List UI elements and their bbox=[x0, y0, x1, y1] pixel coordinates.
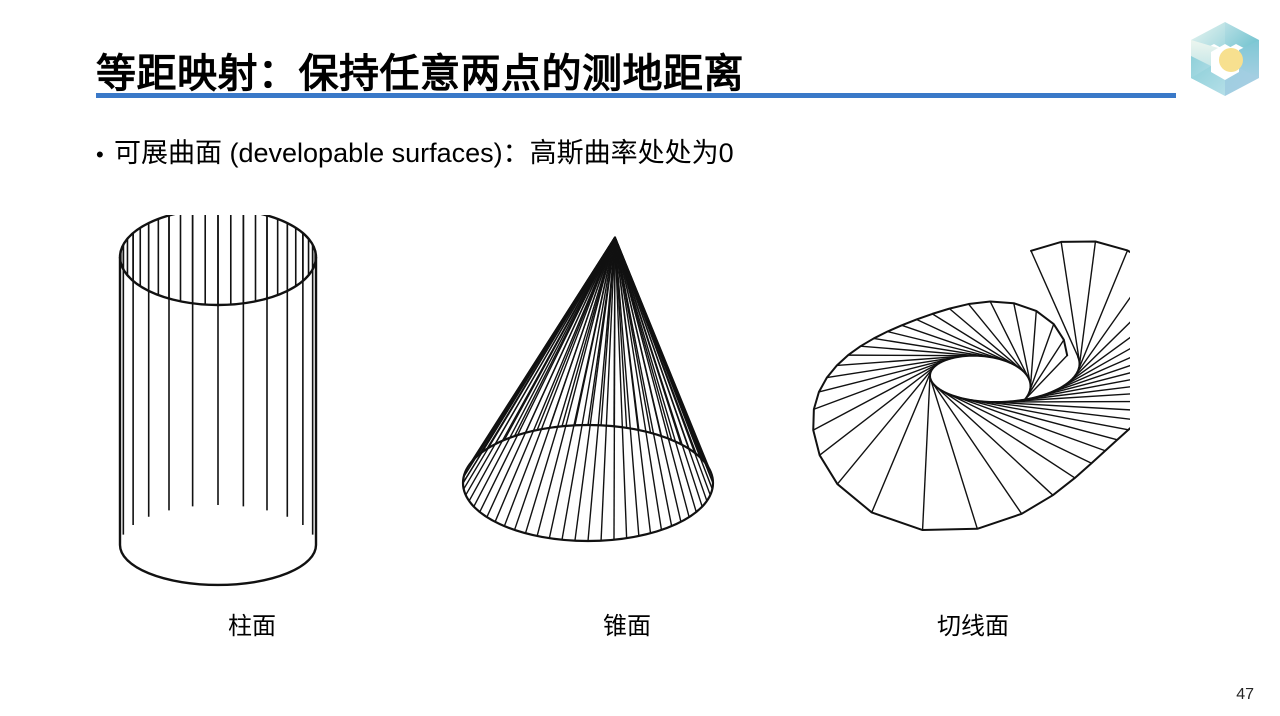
hexagon-g-logo bbox=[1181, 16, 1269, 102]
page-number: 47 bbox=[1236, 686, 1254, 704]
figures-group bbox=[0, 215, 1280, 615]
figure-cone bbox=[460, 215, 790, 615]
figure-cylinder bbox=[100, 215, 430, 615]
bullet-text: 可展曲面 (developable surfaces)：高斯曲率处处为0 bbox=[114, 136, 734, 171]
caption-tangent: 切线面 bbox=[808, 606, 1138, 641]
figure-captions: 柱面 锥面 切线面 bbox=[0, 606, 1280, 650]
figure-tangent bbox=[800, 215, 1130, 615]
slide: 等距映射：保持任意两点的测地距离 bbox=[0, 0, 1280, 716]
title-divider bbox=[96, 93, 1176, 98]
bullet-item: • 可展曲面 (developable surfaces)：高斯曲率处处为0 bbox=[96, 136, 734, 171]
caption-cone: 锥面 bbox=[462, 606, 792, 641]
caption-cylinder: 柱面 bbox=[87, 606, 417, 641]
page-title: 等距映射：保持任意两点的测地距离 bbox=[96, 51, 744, 97]
bullet-marker: • bbox=[96, 144, 112, 166]
